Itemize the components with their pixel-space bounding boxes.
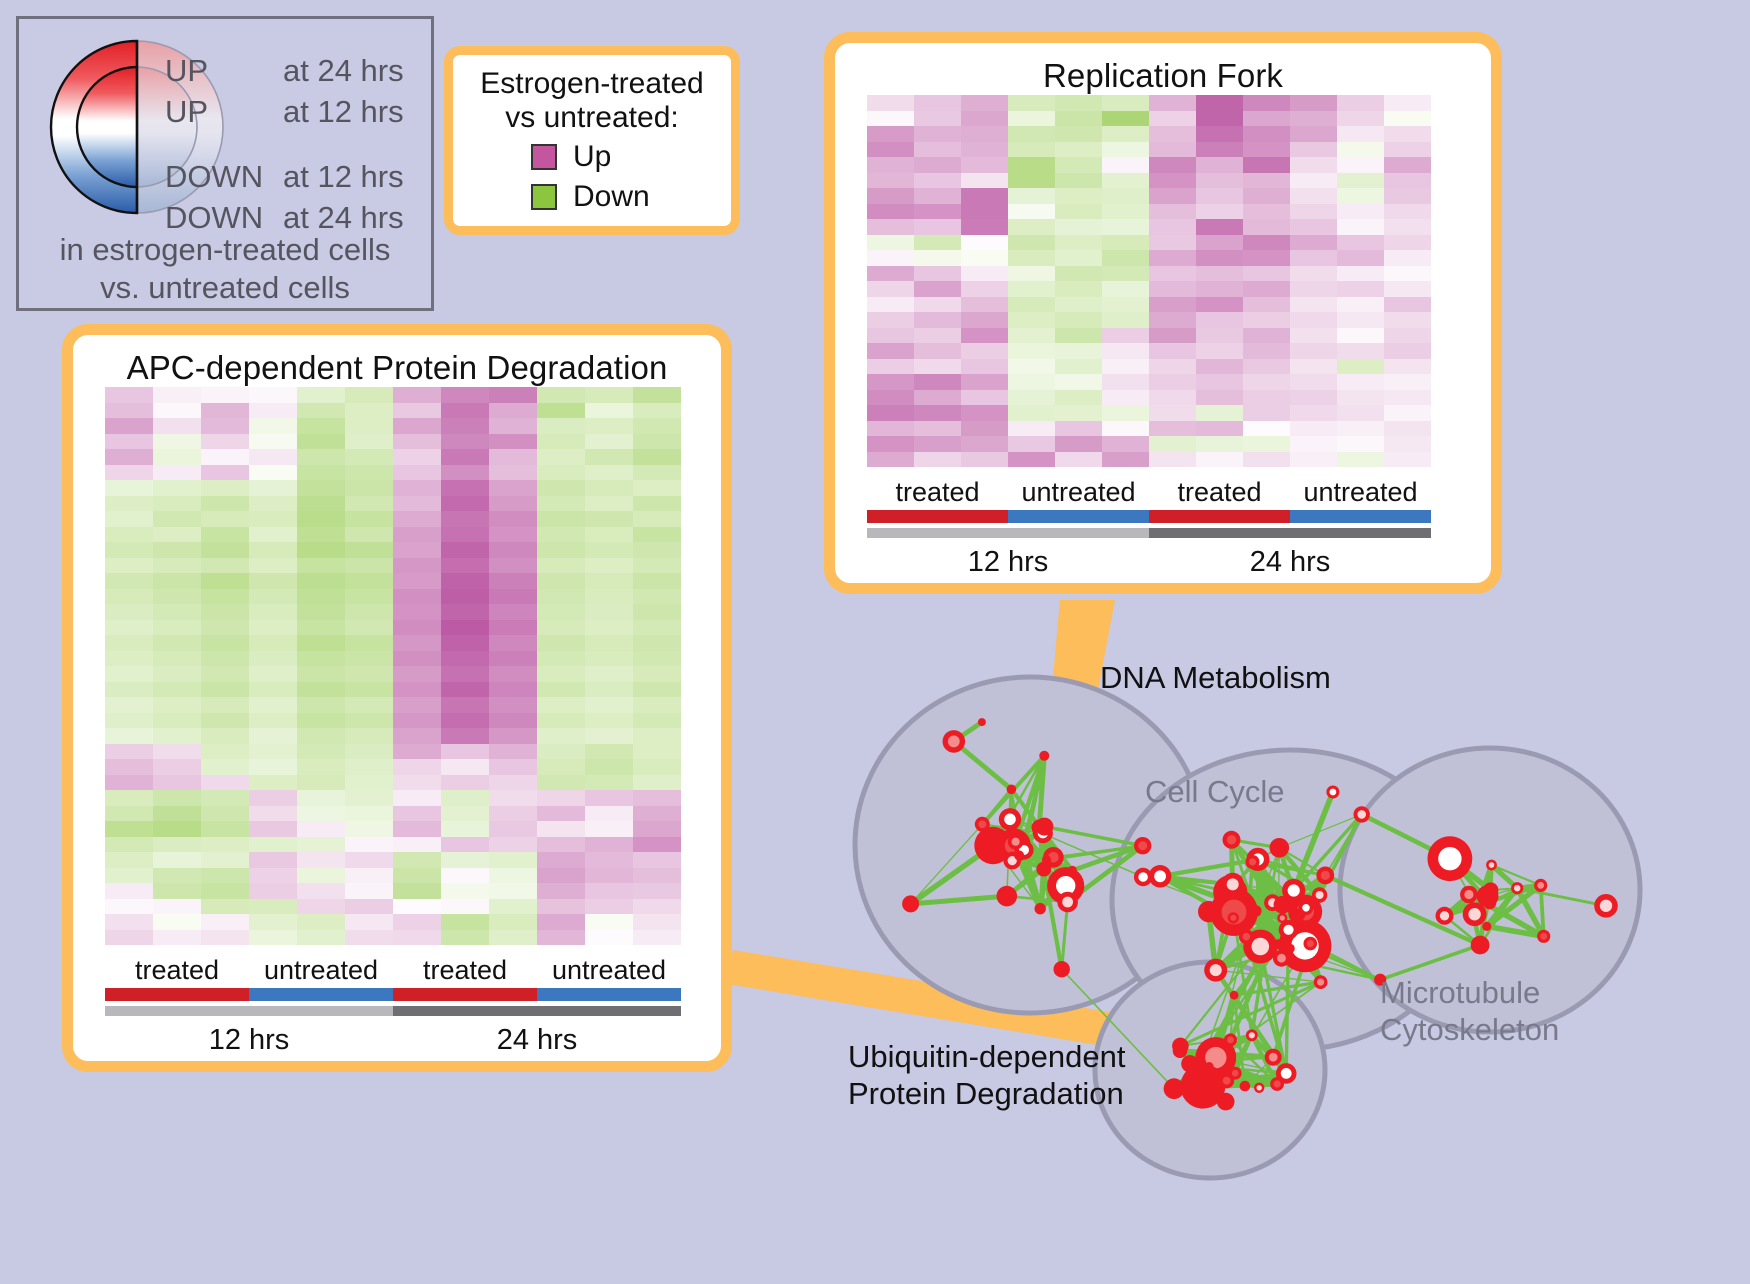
network-node[interactable] — [1240, 1081, 1251, 1092]
heatmap-cell — [1384, 204, 1431, 220]
heatmap-cell — [537, 542, 585, 558]
heatmap-cell — [914, 297, 961, 313]
network-node[interactable] — [1486, 860, 1497, 871]
heatmap-cell — [1008, 266, 1055, 282]
network-node[interactable] — [1039, 751, 1049, 761]
heatmap-cell — [1337, 421, 1384, 437]
heatmap-cell — [393, 790, 441, 806]
heatmap-cell — [345, 883, 393, 899]
heatmap-cell — [393, 465, 441, 481]
heatmap-row — [867, 250, 1431, 266]
heatmap-cell — [537, 496, 585, 512]
network-node[interactable] — [1181, 1055, 1198, 1072]
heatmap-cell — [1196, 421, 1243, 437]
heatmap-cell — [105, 604, 153, 620]
heatmap-cell — [105, 635, 153, 651]
heatmap-cell — [489, 542, 537, 558]
heatmap-cell — [1102, 297, 1149, 313]
heatmap-cell — [1290, 235, 1337, 251]
network-node[interactable] — [1204, 959, 1227, 982]
heatmap-cell — [441, 728, 489, 744]
heatmap-cell — [393, 666, 441, 682]
heatmap-cell — [1102, 126, 1149, 142]
network-node[interactable] — [1035, 903, 1046, 914]
network-node[interactable] — [1277, 913, 1287, 923]
network-node[interactable] — [1149, 865, 1172, 888]
node-inner-core — [1243, 933, 1251, 941]
node-inner-core — [1249, 858, 1256, 865]
heatmap-cell — [105, 620, 153, 636]
heatmap-row — [867, 359, 1431, 375]
heatmap-cell — [489, 527, 537, 543]
heatmap-cell — [961, 328, 1008, 344]
heatmap-cell — [249, 511, 297, 527]
heatmap-cell — [1290, 374, 1337, 390]
condition-label: treated — [1149, 477, 1290, 508]
heatmap-cell — [1290, 204, 1337, 220]
heatmap-cell — [201, 573, 249, 589]
heatmap-cell — [105, 682, 153, 698]
heatmap-cell — [153, 728, 201, 744]
network-node[interactable] — [1270, 838, 1290, 858]
time-label: 12 hrs — [105, 1024, 393, 1057]
heatmap-cell — [201, 852, 249, 868]
heatmap-row — [867, 328, 1431, 344]
heatmap-cell — [537, 790, 585, 806]
heatmap-cell — [585, 852, 633, 868]
network-node[interactable] — [1007, 785, 1017, 795]
heatmap-cell — [393, 573, 441, 589]
heatmap-cell — [1149, 405, 1196, 421]
heatmap-cell — [441, 527, 489, 543]
node-inner-core — [1281, 1068, 1292, 1079]
network-node[interactable] — [978, 718, 986, 726]
heatmap-cell — [1337, 266, 1384, 282]
heatmap-cell — [153, 883, 201, 899]
heatmap-cell — [201, 449, 249, 465]
heatmap-cell — [1149, 312, 1196, 328]
heatmap-cell — [585, 511, 633, 527]
heatmap-cell — [1384, 297, 1431, 313]
heatmap-cell — [537, 465, 585, 481]
heatmap-row — [867, 297, 1431, 313]
heatmap-cell — [249, 806, 297, 822]
heatmap-cell — [297, 434, 345, 450]
network-node[interactable] — [1316, 867, 1334, 885]
network-node[interactable] — [1304, 937, 1318, 951]
heatmap-cell — [914, 359, 961, 375]
network-node[interactable] — [1164, 1078, 1185, 1099]
heatmap-cell — [1243, 204, 1290, 220]
node-outer-ring — [1039, 751, 1049, 761]
network-node[interactable] — [1285, 944, 1294, 953]
network-node[interactable] — [1482, 922, 1491, 931]
heatmap-cell — [537, 775, 585, 791]
down-color-swatch — [531, 184, 557, 210]
heatmap-cell — [633, 682, 681, 698]
heatmap-cell — [1149, 297, 1196, 313]
network-node[interactable] — [1014, 850, 1024, 860]
network-node[interactable] — [1483, 896, 1497, 910]
heatmap-cell — [297, 914, 345, 930]
heatmap-cell — [1337, 359, 1384, 375]
heatmap-cell — [537, 744, 585, 760]
heatmap-row — [867, 452, 1431, 468]
node-inner-core — [1440, 911, 1449, 920]
heatmap-cell — [105, 387, 153, 403]
network-node[interactable] — [1228, 912, 1239, 923]
heatmap-cell — [441, 620, 489, 636]
network-node[interactable] — [943, 730, 966, 753]
heatmap-cell — [153, 837, 201, 853]
key-direction-label: UP — [165, 53, 283, 89]
heatmap-cell — [441, 682, 489, 698]
heatmap-row — [105, 527, 681, 543]
heatmap-cell — [201, 387, 249, 403]
heatmap-cell — [1149, 95, 1196, 111]
heatmap-cell — [585, 697, 633, 713]
network-node[interactable] — [1534, 879, 1547, 892]
heatmap-cell — [1055, 390, 1102, 406]
heatmap-cell — [1102, 343, 1149, 359]
heatmap-cell — [297, 775, 345, 791]
heatmap-cell — [249, 496, 297, 512]
heatmap-cell — [914, 173, 961, 189]
network-node[interactable] — [1354, 806, 1370, 822]
heatmap-cell — [914, 266, 961, 282]
heatmap-row — [105, 387, 681, 403]
up-down-legend-card: Estrogen-treated vs untreated: Up Down — [444, 46, 740, 235]
heatmap-cell — [153, 697, 201, 713]
heatmap-cell — [201, 728, 249, 744]
network-node[interactable] — [902, 895, 919, 912]
heatmap-cell — [201, 775, 249, 791]
heatmap-cell — [345, 418, 393, 434]
network-node[interactable] — [1205, 1062, 1214, 1071]
heatmap-cell — [1102, 328, 1149, 344]
heatmap-cell — [1243, 436, 1290, 452]
heatmap-cell — [537, 697, 585, 713]
heatmap-cell — [1055, 452, 1102, 468]
heatmap-cell — [537, 511, 585, 527]
heatmap-cell — [153, 403, 201, 419]
heatmap-cell — [1243, 250, 1290, 266]
heatmap-cell — [393, 558, 441, 574]
heatmap-cell — [914, 219, 961, 235]
heatmap-cell — [633, 728, 681, 744]
node-outer-ring — [1036, 862, 1051, 877]
heatmap-cell — [393, 604, 441, 620]
heatmap-cell — [201, 589, 249, 605]
heatmap-cell — [1149, 374, 1196, 390]
heatmap-cell — [537, 387, 585, 403]
heatmap-cell — [914, 405, 961, 421]
heatmap-cell — [201, 496, 249, 512]
condition-label: treated — [867, 477, 1008, 508]
node-outer-ring — [1014, 850, 1024, 860]
heatmap-cell — [249, 821, 297, 837]
condition-color-segment — [105, 988, 249, 1001]
legend-title-line1: Estrogen-treated — [453, 67, 731, 101]
time-color-bar-apc — [105, 1006, 681, 1016]
key-direction-label: DOWN — [165, 159, 283, 195]
heatmap-cell — [961, 95, 1008, 111]
heatmap-cell — [297, 837, 345, 853]
network-node[interactable] — [1276, 1063, 1297, 1084]
network-node[interactable] — [1172, 1038, 1189, 1055]
network-node[interactable] — [1254, 1083, 1264, 1093]
network-node[interactable] — [999, 808, 1021, 830]
heatmap-cell — [393, 759, 441, 775]
heatmap-cell — [1243, 328, 1290, 344]
heatmap-cell — [441, 604, 489, 620]
network-node[interactable] — [1293, 908, 1306, 921]
node-inner-core — [978, 820, 986, 828]
heatmap-cell — [1149, 235, 1196, 251]
heatmap-cell — [201, 620, 249, 636]
heatmap-cell — [297, 558, 345, 574]
heatmap-cell — [961, 235, 1008, 251]
network-node[interactable] — [1312, 887, 1327, 902]
heatmap-cell — [249, 775, 297, 791]
heatmap-cell — [489, 821, 537, 837]
heatmap-row — [105, 775, 681, 791]
heatmap-cell — [297, 604, 345, 620]
heatmap-cell — [1008, 235, 1055, 251]
heatmap-cell — [1290, 250, 1337, 266]
heatmap-cell — [345, 713, 393, 729]
heatmap-cell — [1243, 219, 1290, 235]
heatmap-cell — [489, 589, 537, 605]
network-node[interactable] — [997, 886, 1018, 907]
heatmap-row — [105, 589, 681, 605]
heatmap-row — [105, 713, 681, 729]
network-node[interactable] — [1229, 1067, 1242, 1080]
condition-color-segment — [1290, 510, 1431, 523]
heatmap-cell — [537, 682, 585, 698]
node-inner-core — [1232, 1070, 1239, 1077]
heatmap-cell — [249, 914, 297, 930]
heatmap-cell — [393, 434, 441, 450]
heatmap-cell — [1243, 374, 1290, 390]
key-time-label: at 24 hrs — [283, 53, 404, 89]
heatmap-cell — [489, 775, 537, 791]
heatmap-cell — [297, 573, 345, 589]
heatmap-cell — [393, 403, 441, 419]
network-node[interactable] — [1537, 930, 1550, 943]
heatmap-cell — [537, 449, 585, 465]
heatmap-cell — [249, 682, 297, 698]
network-node[interactable] — [1250, 905, 1262, 917]
heatmap-cell — [345, 868, 393, 884]
heatmap-cell — [585, 604, 633, 620]
heatmap-cell — [393, 589, 441, 605]
heatmap-cell — [961, 266, 1008, 282]
heatmap-row — [105, 697, 681, 713]
heatmap-cell — [1055, 297, 1102, 313]
time-label: 12 hrs — [867, 546, 1149, 579]
heatmap-row — [105, 604, 681, 620]
network-node[interactable] — [1221, 873, 1244, 896]
heatmap-cell — [1055, 343, 1102, 359]
network-node[interactable] — [1436, 907, 1454, 925]
condition-color-segment — [249, 988, 393, 1001]
condition-label: treated — [393, 955, 537, 986]
network-node[interactable] — [1239, 929, 1254, 944]
heatmap-cell — [1008, 452, 1055, 468]
heatmap-cell — [867, 390, 914, 406]
network-node[interactable] — [1460, 886, 1478, 904]
heatmap-cell — [867, 188, 914, 204]
heatmap-cell — [961, 188, 1008, 204]
heatmap-row — [867, 188, 1431, 204]
network-node[interactable] — [1008, 834, 1024, 850]
heatmap-cell — [105, 465, 153, 481]
condition-color-segment — [537, 988, 681, 1001]
node-outer-ring — [1482, 922, 1491, 931]
heatmap-cell — [393, 449, 441, 465]
network-node[interactable] — [1246, 1029, 1258, 1041]
network-node[interactable] — [1428, 836, 1473, 881]
heatmap-cell — [961, 421, 1008, 437]
heatmap-cell — [489, 449, 537, 465]
heatmap-cell — [914, 312, 961, 328]
heatmap-row — [105, 558, 681, 574]
heatmap-cell — [393, 651, 441, 667]
heatmap-cell — [1290, 452, 1337, 468]
heatmap-cell — [1290, 312, 1337, 328]
heatmap-cell — [153, 387, 201, 403]
heatmap-cell — [1055, 250, 1102, 266]
heatmap-row — [105, 837, 681, 853]
heatmap-cell — [105, 527, 153, 543]
network-node[interactable] — [1511, 882, 1523, 894]
heatmap-cell — [297, 682, 345, 698]
panel-replication-fork: Replication Fork treateduntreatedtreated… — [824, 32, 1502, 594]
heatmap-row — [105, 666, 681, 682]
heatmap-cell — [1008, 250, 1055, 266]
heatmap-cell — [585, 620, 633, 636]
heatmap-cell — [105, 403, 153, 419]
network-node[interactable] — [1273, 939, 1283, 949]
heatmap-cell — [249, 759, 297, 775]
network-node[interactable] — [1224, 1033, 1237, 1046]
heatmap-row — [105, 403, 681, 419]
heatmap-cell — [1196, 436, 1243, 452]
heatmap-cell — [297, 387, 345, 403]
network-node[interactable] — [1217, 1093, 1235, 1111]
heatmap-cell — [1008, 281, 1055, 297]
network-node[interactable] — [1068, 866, 1077, 875]
heatmap-cell — [489, 744, 537, 760]
heatmap-cell — [1337, 157, 1384, 173]
heatmap-cell — [1055, 374, 1102, 390]
heatmap-cell — [153, 465, 201, 481]
heatmap-cell — [441, 589, 489, 605]
time-labels-apc: 12 hrs24 hrs — [105, 1024, 681, 1057]
heatmap-cell — [345, 899, 393, 915]
heatmap-cell — [345, 806, 393, 822]
heatmap-cell — [1384, 250, 1431, 266]
heatmap-cell — [345, 387, 393, 403]
heatmap-cell — [201, 744, 249, 760]
condition-label: treated — [105, 955, 249, 986]
heatmap-cell — [105, 651, 153, 667]
heatmap-cell — [537, 527, 585, 543]
network-node[interactable] — [1265, 1049, 1282, 1066]
node-inner-core — [1537, 882, 1544, 889]
heatmap-cell — [1384, 173, 1431, 189]
network-node[interactable] — [1326, 786, 1339, 799]
condition-label: untreated — [249, 955, 393, 986]
heatmap-cell — [1290, 343, 1337, 359]
heatmap-cell — [393, 744, 441, 760]
heatmap-cell — [345, 682, 393, 698]
cluster-label-ubiquitin-protein-degradation: Ubiquitin-dependent Protein Degradation — [848, 1038, 1126, 1112]
condition-label: untreated — [537, 955, 681, 986]
heatmap-cell — [153, 790, 201, 806]
heatmap-cell — [585, 387, 633, 403]
network-node[interactable] — [1223, 831, 1241, 849]
heatmap-cell — [345, 728, 393, 744]
network-node[interactable] — [1471, 936, 1490, 955]
network-node[interactable] — [1246, 855, 1260, 869]
network-node[interactable] — [1314, 975, 1328, 989]
heatmap-cell — [1243, 405, 1290, 421]
heatmap-cell — [1102, 173, 1149, 189]
heatmap-cell — [961, 297, 1008, 313]
network-node[interactable] — [1198, 901, 1219, 922]
heatmap-cell — [1102, 235, 1149, 251]
heatmap-cell — [1384, 328, 1431, 344]
heatmap-row — [105, 914, 681, 930]
heatmap-cell — [537, 418, 585, 434]
heatmap-cell — [489, 434, 537, 450]
heatmap-cell — [537, 759, 585, 775]
heatmap-cell — [1337, 142, 1384, 158]
network-node[interactable] — [1134, 837, 1151, 854]
network-node[interactable] — [1274, 896, 1292, 914]
heatmap-cell — [393, 480, 441, 496]
heatmap-cell — [201, 558, 249, 574]
heatmap-cell — [489, 852, 537, 868]
heatmap-cell — [633, 558, 681, 574]
heatmap-cell — [1055, 421, 1102, 437]
heatmap-row — [867, 111, 1431, 127]
heatmap-cell — [537, 434, 585, 450]
network-node[interactable] — [1057, 892, 1078, 913]
network-node[interactable] — [1054, 961, 1070, 977]
network-node[interactable] — [1230, 991, 1239, 1000]
heatmap-cell — [914, 111, 961, 127]
heatmap-cell — [914, 95, 961, 111]
heatmap-cell — [345, 604, 393, 620]
heatmap-cell — [961, 452, 1008, 468]
heatmap-cell — [867, 126, 914, 142]
network-node[interactable] — [975, 817, 990, 832]
heatmap-cell — [1008, 111, 1055, 127]
heatmap-cell — [914, 343, 961, 359]
heatmap-cell — [153, 775, 201, 791]
heatmap-cell — [1337, 188, 1384, 204]
heatmap-row — [105, 449, 681, 465]
heatmap-cell — [441, 511, 489, 527]
network-node[interactable] — [1035, 818, 1053, 836]
heatmap-cell — [201, 418, 249, 434]
heatmap-cell — [585, 480, 633, 496]
network-node[interactable] — [1036, 862, 1051, 877]
network-node[interactable] — [1594, 894, 1618, 918]
